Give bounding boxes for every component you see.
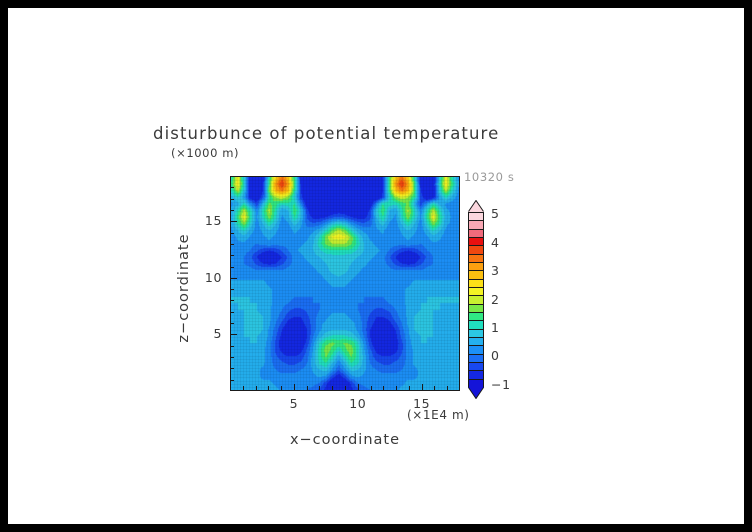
y-axis-title: z−coordinate [176, 218, 192, 358]
x-axis-tick [345, 386, 346, 390]
x-axis-tick-label: 5 [274, 396, 314, 411]
x-axis-title: x−coordinate [221, 432, 469, 448]
y-axis-tick [230, 210, 234, 211]
y-axis-tick [230, 233, 234, 234]
y-axis-tick [230, 346, 234, 347]
colorbar [468, 212, 484, 387]
z-axis-unit-label: (×1000 m) [171, 146, 239, 160]
x-axis-tick [319, 386, 320, 390]
y-axis-tick [230, 278, 237, 279]
y-axis-tick [230, 357, 234, 358]
x-axis-tick [358, 384, 359, 391]
x-axis-tick [243, 386, 244, 390]
y-axis-tick [230, 199, 234, 200]
page-title: disturbunce of potential temperature [153, 124, 499, 143]
x-axis-tick [332, 386, 333, 390]
y-axis-tick [230, 244, 234, 245]
x-axis-tick [268, 386, 269, 390]
x-axis-unit-label: (×1E4 m) [407, 408, 470, 422]
y-axis-tick [230, 368, 234, 369]
y-axis-tick [230, 221, 237, 222]
heatmap-canvas [231, 177, 459, 390]
x-axis-tick [371, 386, 372, 390]
x-axis-tick [307, 386, 308, 390]
colorbar-tick-label: 2 [491, 292, 500, 307]
colorbar-extend-top-outline [468, 200, 484, 212]
x-axis-tick [294, 384, 295, 391]
x-axis-tick [434, 386, 435, 390]
y-axis-tick [230, 267, 234, 268]
colorbar-tick-label: 0 [491, 348, 500, 363]
x-axis-tick [409, 386, 410, 390]
x-axis-tick [422, 384, 423, 391]
colorbar-tick-label: 3 [491, 263, 500, 278]
colorbar-tick-label: 5 [491, 206, 500, 221]
y-axis-tick [230, 312, 234, 313]
x-axis-tick [383, 386, 384, 390]
timestamp-annotation: 10320 s [464, 170, 514, 184]
x-axis-tick [281, 386, 282, 390]
y-axis-tick [230, 300, 234, 301]
y-axis-tick [230, 323, 234, 324]
y-axis-tick [230, 289, 234, 290]
y-axis-tick [230, 187, 234, 188]
colorbar-tick-label: 4 [491, 235, 500, 250]
x-axis-tick-label: 10 [338, 396, 378, 411]
colorbar-extend-bottom-outline [468, 387, 484, 399]
y-axis-tick [230, 255, 234, 256]
figure-canvas: disturbunce of potential temperature (×1… [8, 8, 744, 524]
heatmap-plot-area [230, 176, 460, 391]
y-axis-tick [230, 380, 234, 381]
colorbar-tick-label: 1 [491, 320, 500, 335]
x-axis-tick [447, 386, 448, 390]
x-axis-tick [256, 386, 257, 390]
figure-border: disturbunce of potential temperature (×1… [0, 0, 752, 532]
colorbar-tick-label: −1 [491, 377, 511, 392]
x-axis-tick [396, 386, 397, 390]
y-axis-tick [230, 334, 237, 335]
